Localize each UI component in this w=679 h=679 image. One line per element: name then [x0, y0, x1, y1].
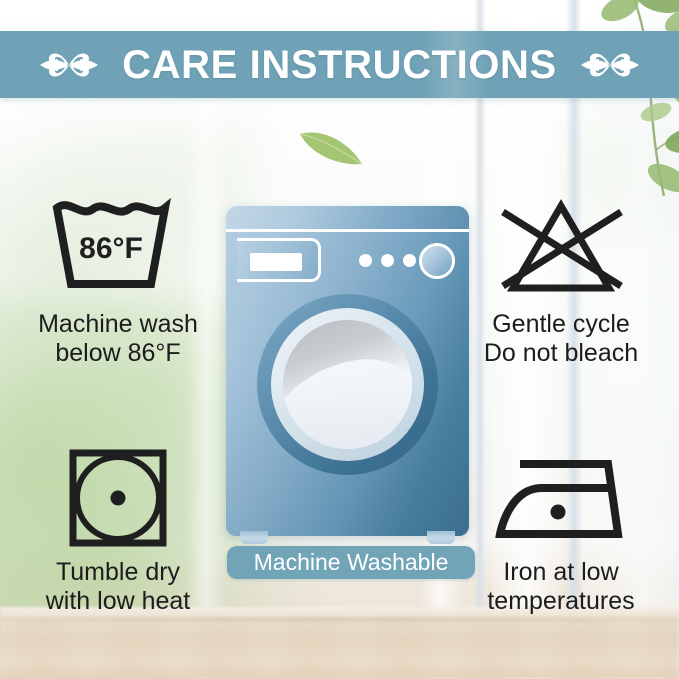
background-wood-edge-line	[0, 618, 679, 621]
care-item-label: Machine wash below 86°F	[38, 310, 198, 368]
care-item-tumble-dry: Tumble dry with low heat	[4, 440, 232, 616]
wash-temperature-value: 86°F	[79, 232, 143, 265]
control-dot	[359, 254, 372, 267]
iron-svg	[486, 444, 636, 548]
header-banner: CARE INSTRUCTIONS	[0, 31, 679, 98]
background-wood-grain	[0, 617, 679, 679]
care-item-label: Tumble dry with low heat	[46, 558, 191, 616]
care-item-label: Iron at low temperatures	[487, 558, 634, 616]
detergent-drawer	[237, 238, 321, 282]
care-instructions-infographic: CARE INSTRUCTIONS 86°F Machine wash b	[0, 0, 679, 679]
machine-foot	[427, 531, 455, 544]
care-item-label: Gentle cycle Do not bleach	[484, 310, 638, 368]
control-dot	[381, 254, 394, 267]
control-dots	[359, 254, 416, 267]
machine-shading	[226, 386, 469, 536]
page-title: CARE INSTRUCTIONS	[122, 45, 557, 85]
care-item-do-not-bleach: Gentle cycle Do not bleach	[447, 192, 675, 368]
machine-top-panel	[226, 206, 469, 232]
tumble-dry-svg	[63, 444, 173, 548]
control-dot	[403, 254, 416, 267]
washing-machine-illustration	[226, 206, 469, 536]
machine-foot	[240, 531, 268, 544]
care-item-machine-wash: 86°F Machine wash below 86°F	[4, 192, 232, 368]
detergent-drawer-slot	[250, 253, 302, 271]
dial-knob	[419, 243, 455, 279]
status-badge: Machine Washable	[227, 546, 475, 579]
do-not-bleach-triangle-icon	[481, 192, 641, 304]
fleur-de-lis-icon	[38, 42, 100, 88]
wash-tub-svg: 86°F	[43, 196, 193, 300]
machine-body	[226, 206, 469, 536]
iron-low-heat-icon	[486, 440, 636, 552]
wash-tub-icon: 86°F	[43, 192, 193, 304]
fleur-de-lis-icon	[579, 42, 641, 88]
do-not-bleach-svg	[481, 196, 641, 300]
care-item-iron-low: Iron at low temperatures	[447, 440, 675, 616]
tumble-dry-low-icon	[63, 440, 173, 552]
banner-light-sheen	[420, 31, 490, 98]
status-badge-label: Machine Washable	[254, 551, 449, 574]
